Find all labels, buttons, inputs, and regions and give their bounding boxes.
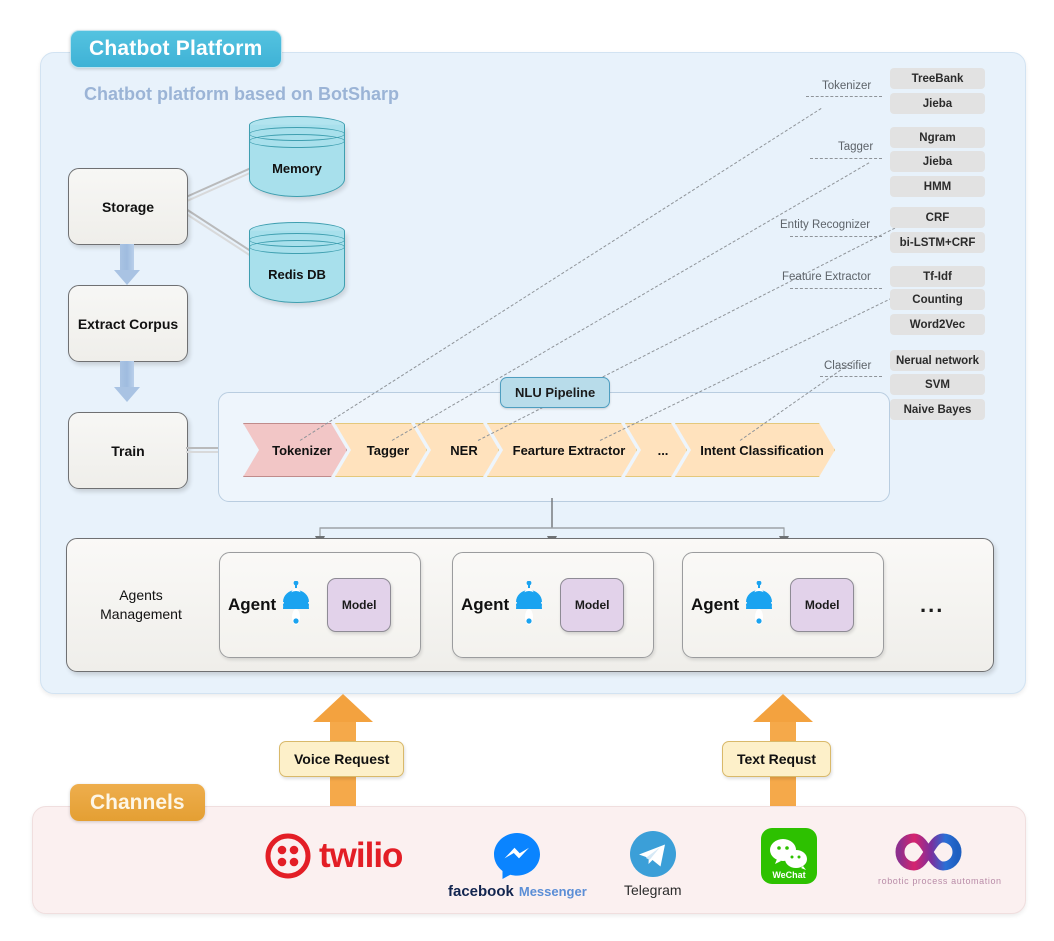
- twilio-icon: [265, 833, 311, 879]
- connector-train-pipeline: [186, 447, 220, 449]
- agent-card[interactable]: Agent Model: [452, 552, 654, 658]
- nlu-option-treebank[interactable]: TreeBank: [890, 68, 985, 89]
- wechat-icon: WeChat: [761, 828, 817, 884]
- nlu-option-counting[interactable]: Counting: [890, 289, 985, 310]
- nlu-option-bilstm-crf[interactable]: bi-LSTM+CRF: [890, 232, 985, 253]
- nlu-option-jieba-tag[interactable]: Jieba: [890, 151, 985, 172]
- nlu-option-tfidf[interactable]: Tf-Idf: [890, 266, 985, 287]
- pipeline-stage-tagger[interactable]: Tagger: [335, 423, 427, 477]
- connector-dashed-tagger-tail: [810, 158, 882, 159]
- channel-rpa[interactable]: robotic process automation: [878, 830, 1002, 886]
- nlu-option-naive-bayes[interactable]: Naive Bayes: [890, 399, 985, 420]
- rpa-infinity-icon: [881, 830, 999, 878]
- datastore-label: Redis DB: [250, 267, 344, 282]
- connector-dashed-classifier-tail: [820, 376, 882, 377]
- pipeline-stage-feature-extractor[interactable]: Fearture Extractor: [487, 423, 637, 477]
- telegram-icon: [627, 828, 679, 880]
- cylinder-body: Memory: [249, 125, 345, 197]
- facebook-wordmark: facebook: [448, 883, 514, 900]
- agent-model-box[interactable]: Model: [790, 578, 854, 632]
- arrow-storage-to-extract-icon: [114, 244, 140, 285]
- cylinder-ring: [249, 240, 346, 254]
- agent-card[interactable]: Agent Model: [682, 552, 884, 658]
- nlu-group-label-tokenizer: Tokenizer: [822, 80, 871, 92]
- channels-title-badge: Channels: [70, 784, 205, 821]
- nlu-option-neural-network[interactable]: Nerual network: [890, 350, 985, 371]
- agent-model-box[interactable]: Model: [327, 578, 391, 632]
- node-storage[interactable]: Storage: [68, 168, 188, 245]
- robot-icon: [742, 581, 776, 629]
- datastore-label: Memory: [250, 161, 344, 176]
- pipeline-stage-intent-classification[interactable]: Intent Classification: [675, 423, 835, 477]
- channel-twilio[interactable]: twilio: [265, 833, 402, 879]
- twilio-wordmark: twilio: [319, 836, 402, 876]
- agents-management-title: Agents Management: [86, 586, 196, 624]
- telegram-caption: Telegram: [624, 882, 682, 898]
- nlu-pipeline-stages: Tokenizer Tagger NER Fearture Extractor …: [243, 423, 823, 477]
- connector-dashed-entity-tail: [790, 236, 882, 237]
- robot-icon: [279, 581, 313, 629]
- datastore-memory: Memory: [249, 116, 345, 197]
- nlu-option-hmm[interactable]: HMM: [890, 176, 985, 197]
- platform-subtitle: Chatbot platform based on BotSharp: [84, 84, 399, 105]
- nlu-pipeline-badge: NLU Pipeline: [500, 377, 610, 408]
- svg-text:WeChat: WeChat: [772, 870, 805, 880]
- platform-title-badge: Chatbot Platform: [70, 30, 282, 68]
- agents-title-line1: Agents: [86, 586, 196, 605]
- arrow-extract-to-train-icon: [114, 361, 140, 402]
- rpa-caption: robotic process automation: [878, 876, 1002, 886]
- nlu-option-svm[interactable]: SVM: [890, 374, 985, 395]
- robot-icon: [512, 581, 546, 629]
- node-train[interactable]: Train: [68, 412, 188, 489]
- voice-request-label: Voice Request: [279, 741, 404, 777]
- nlu-option-word2vec[interactable]: Word2Vec: [890, 314, 985, 335]
- nlu-group-label-feature-extractor: Feature Extractor: [782, 271, 871, 283]
- nlu-group-label-tagger: Tagger: [838, 141, 873, 153]
- pipeline-stage-ner[interactable]: NER: [415, 423, 499, 477]
- agent-model-box[interactable]: Model: [560, 578, 624, 632]
- nlu-option-jieba-tok[interactable]: Jieba: [890, 93, 985, 114]
- agent-card[interactable]: Agent Model: [219, 552, 421, 658]
- channel-telegram[interactable]: Telegram: [624, 828, 682, 898]
- agent-label: Agent: [461, 595, 509, 615]
- connector-dashed-feature-tail: [790, 288, 882, 289]
- agent-label: Agent: [228, 595, 276, 615]
- channel-messenger[interactable]: facebook Messenger: [448, 830, 587, 900]
- connector-dashed-tokenizer-tail: [806, 96, 882, 97]
- channel-wechat[interactable]: WeChat: [761, 828, 817, 884]
- cylinder-body: Redis DB: [249, 231, 345, 303]
- messenger-wordmark: Messenger: [519, 884, 587, 899]
- nlu-option-crf[interactable]: CRF: [890, 207, 985, 228]
- agents-more-ellipsis: ...: [920, 592, 944, 618]
- nlu-group-label-entity-recognizer: Entity Recognizer: [780, 219, 870, 231]
- pipeline-stage-tokenizer[interactable]: Tokenizer: [243, 423, 347, 477]
- nlu-option-ngram[interactable]: Ngram: [890, 127, 985, 148]
- cylinder-ring: [249, 134, 346, 148]
- datastore-redis: Redis DB: [249, 222, 345, 303]
- messenger-icon: [491, 830, 543, 882]
- text-request-label: Text Requst: [722, 741, 831, 777]
- agent-label: Agent: [691, 595, 739, 615]
- nlu-group-label-classifier: Classifier: [824, 360, 871, 372]
- node-extract-corpus[interactable]: Extract Corpus: [68, 285, 188, 362]
- agents-title-line2: Management: [86, 605, 196, 624]
